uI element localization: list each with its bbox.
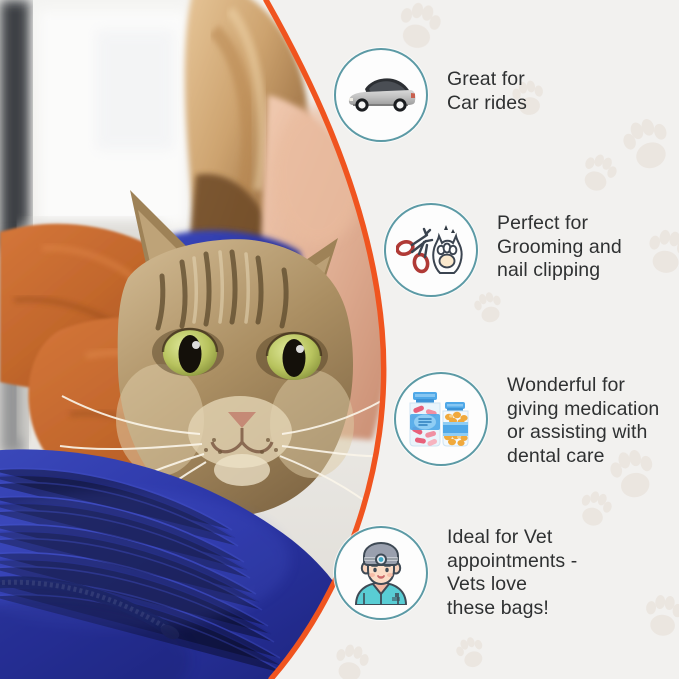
feature-label: Ideal for Vet appointments - Vets love t… bbox=[447, 526, 577, 620]
veterinarian-icon bbox=[334, 526, 428, 620]
feature-item-car-rides[interactable]: Great for Car rides bbox=[334, 48, 527, 142]
feature-item-medication[interactable]: Wonderful for giving medication or assis… bbox=[394, 372, 659, 468]
feature-item-vet[interactable]: Ideal for Vet appointments - Vets love t… bbox=[334, 526, 577, 620]
feature-label: Wonderful for giving medication or assis… bbox=[507, 372, 659, 468]
feature-infographic: Great for Car rides bbox=[0, 0, 679, 679]
feature-list: Great for Car rides bbox=[318, 0, 679, 679]
feature-label: Great for Car rides bbox=[447, 48, 527, 115]
nail-clipper-paw-icon bbox=[384, 203, 478, 297]
medication-bottles-icon bbox=[394, 372, 488, 466]
feature-label: Perfect for Grooming and nail clipping bbox=[497, 203, 622, 283]
feature-item-grooming[interactable]: Perfect for Grooming and nail clipping bbox=[384, 203, 622, 297]
car-icon bbox=[334, 48, 428, 142]
